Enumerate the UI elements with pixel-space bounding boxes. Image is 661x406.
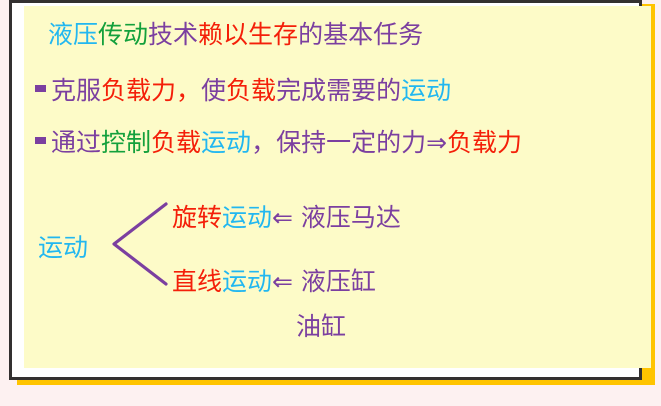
bullet2-segment-4: 运动 [201, 128, 251, 157]
branch-bottom-segment-3: ⇐ 液压缸 [272, 267, 376, 296]
square-bullet-icon [35, 137, 46, 144]
title-segment-3: 技术 [148, 20, 198, 49]
bullet2-segment-1: 通过 [51, 128, 101, 157]
title-segment-2: 传动 [98, 20, 148, 49]
branch-bottom-segment-1: 直线 [172, 267, 222, 296]
title-segment-4: 赖以生存 [198, 20, 298, 49]
bullet1-segment-5: 完成需要的 [276, 76, 401, 105]
bullet2-segment-5: ，保持一定的力⇒ [251, 128, 447, 157]
bullet1-segment-2: 负载力， [101, 76, 201, 105]
slide-title-line: 液压传动技术赖以生存的基本任务 [48, 22, 423, 47]
bullet-line-1: 克服负载力，使负载完成需要的运动 [35, 78, 451, 103]
bullet2-segment-6: 负载力 [447, 128, 522, 157]
diagram-branch-bottom: 直线运动⇐ 液压缸 [172, 262, 376, 298]
title-segment-5: 的基本任务 [298, 20, 423, 49]
bullet1-segment-6: 运动 [401, 76, 451, 105]
motion-branch-diagram: 运动 旋转运动⇐ 液压马达 直线运动⇐ 液压缸 油缸 [24, 184, 651, 359]
branch-top-segment-3: ⇐ 液压马达 [272, 203, 401, 232]
branch-top-segment-1: 旋转 [172, 203, 222, 232]
diagram-root-label: 运动 [38, 228, 88, 264]
bullet1-segment-4: 负载 [226, 76, 276, 105]
bullet2-segment-3: 负载 [151, 128, 201, 157]
slide-canvas: 液压传动技术赖以生存的基本任务 克服负载力，使负载完成需要的运动 通过控制负载运… [24, 6, 651, 368]
slide-frame: 液压传动技术赖以生存的基本任务 克服负载力，使负载完成需要的运动 通过控制负载运… [9, 0, 642, 380]
slide-root: 液压传动技术赖以生存的基本任务 克服负载力，使负载完成需要的运动 通过控制负载运… [0, 0, 661, 406]
bullet2-segment-2: 控制 [101, 128, 151, 157]
title-segment-1: 液压 [48, 20, 98, 49]
diagram-branch-bottom-sublabel: 油缸 [296, 307, 346, 343]
left-angle-bracket-icon [110, 196, 180, 286]
branch-top-segment-2: 运动 [222, 203, 272, 232]
bullet1-segment-3: 使 [201, 76, 226, 105]
bullet-line-2: 通过控制负载运动，保持一定的力⇒负载力 [35, 130, 522, 155]
branch-bottom-segment-2: 运动 [222, 267, 272, 296]
square-bullet-icon [35, 85, 46, 92]
diagram-branch-top: 旋转运动⇐ 液压马达 [172, 198, 401, 234]
bullet1-segment-1: 克服 [51, 76, 101, 105]
